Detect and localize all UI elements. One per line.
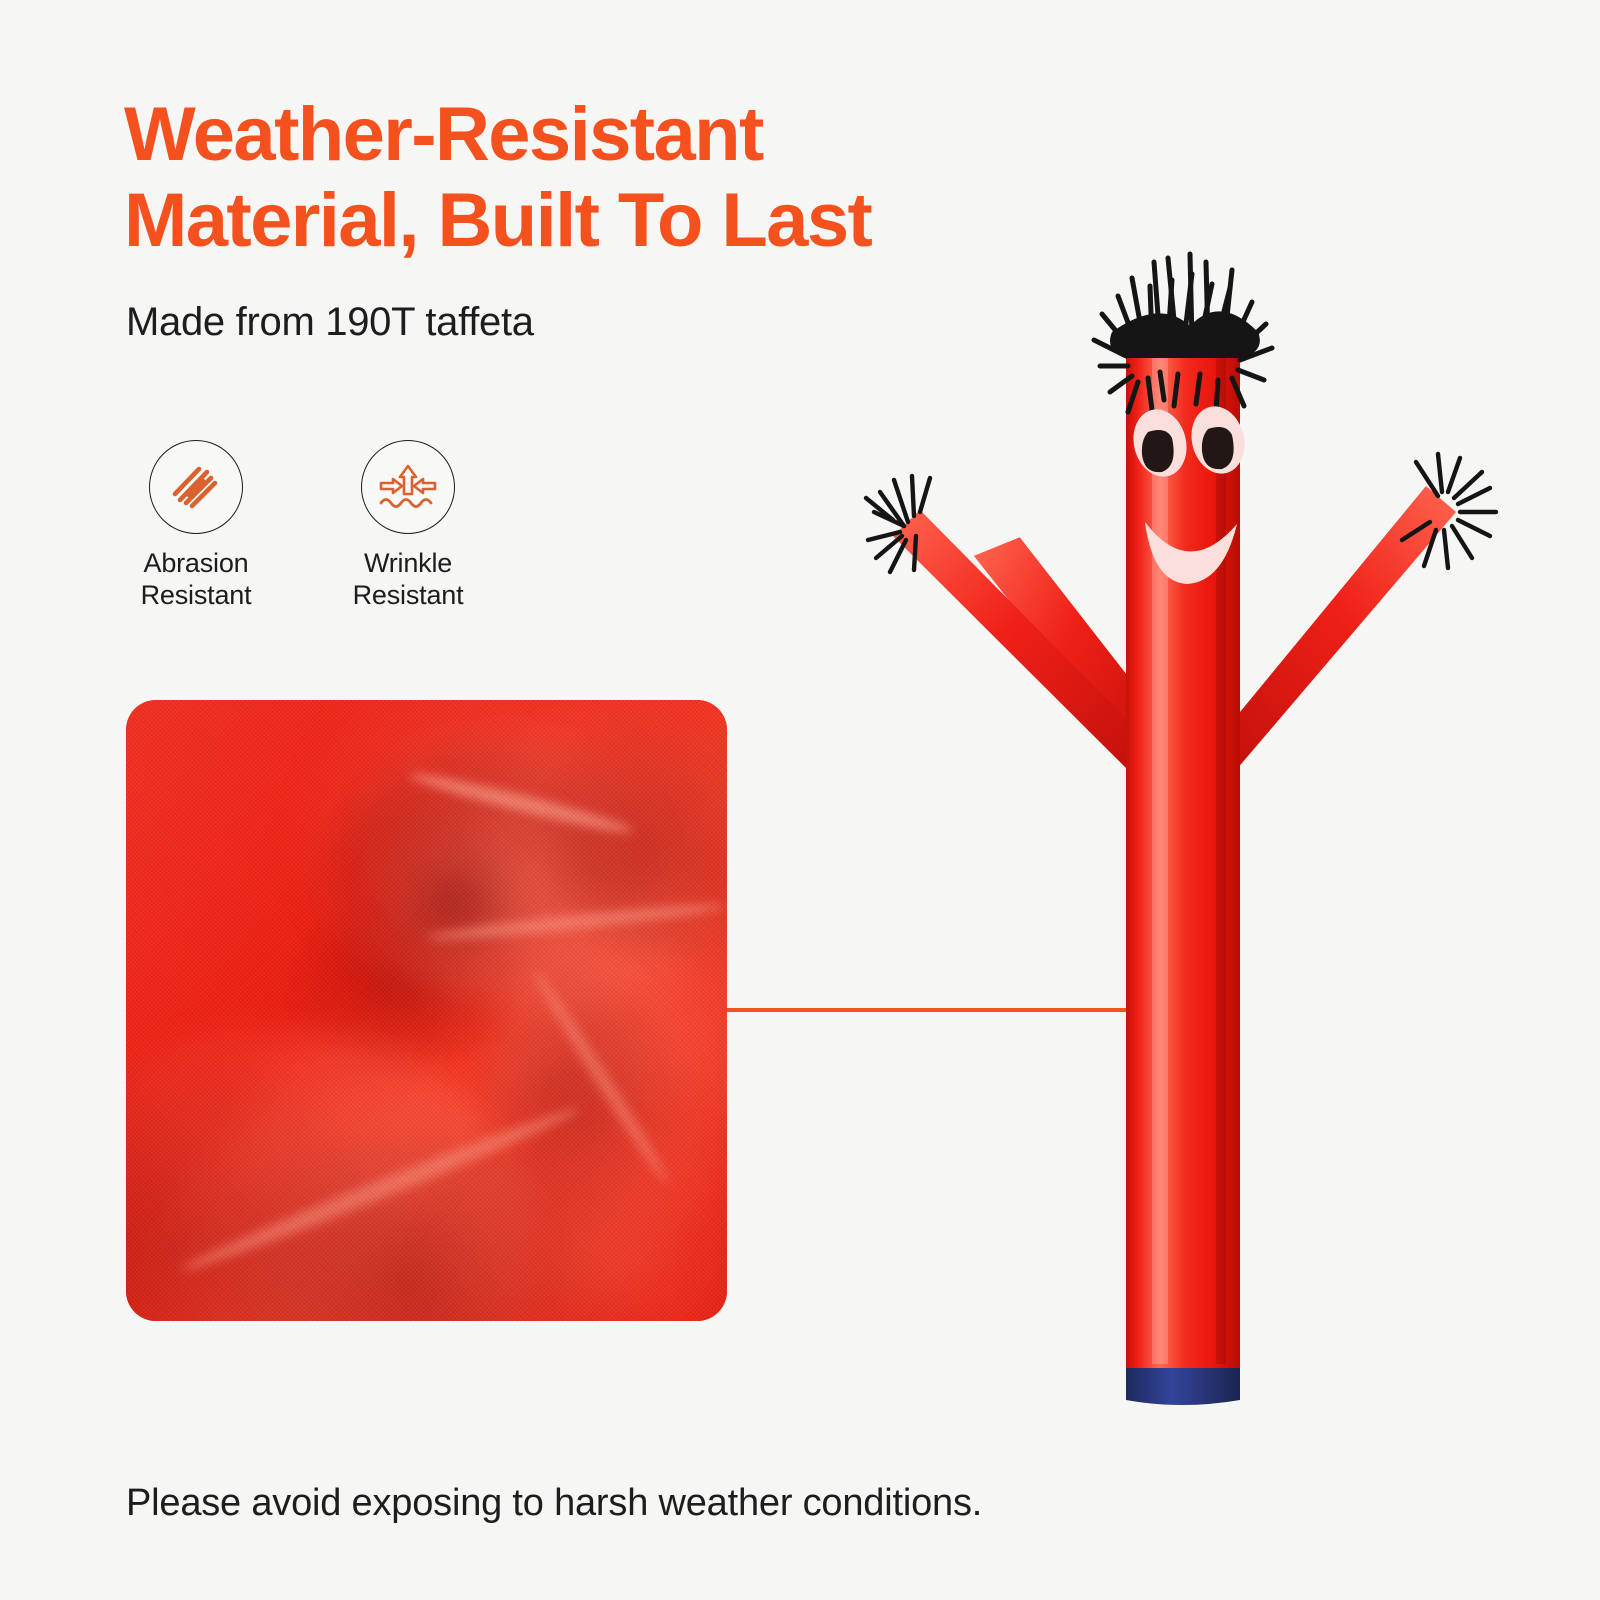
abrasion-hatch-icon bbox=[167, 458, 225, 516]
headline-line-1: Weather-Resistant bbox=[124, 92, 1084, 178]
badge-label: Abrasion Resistant bbox=[141, 548, 252, 611]
badge-wrinkle-resistant: Wrinkle Resistant bbox=[338, 440, 478, 611]
badge-icon-frame bbox=[361, 440, 455, 534]
infographic-page: Weather-Resistant Material, Built To Las… bbox=[0, 0, 1600, 1600]
feature-badge-group: Abrasion Resistant bbox=[126, 440, 478, 611]
badge-icon-frame bbox=[149, 440, 243, 534]
red-inflatable-tube-man bbox=[860, 240, 1500, 1420]
woven-texture-overlay bbox=[126, 700, 727, 1321]
tube-man-base-band bbox=[1126, 1368, 1240, 1405]
tube-man-body bbox=[1126, 340, 1240, 1368]
badge-label: Wrinkle Resistant bbox=[353, 548, 464, 611]
disclaimer-text: Please avoid exposing to harsh weather c… bbox=[126, 1482, 982, 1525]
wrinkle-arrows-icon bbox=[377, 458, 439, 516]
page-title: Weather-Resistant Material, Built To Las… bbox=[124, 92, 1084, 264]
badge-abrasion-resistant: Abrasion Resistant bbox=[126, 440, 266, 611]
fabric-swatch-image bbox=[126, 700, 727, 1321]
subtitle: Made from 190T taffeta bbox=[126, 300, 534, 345]
